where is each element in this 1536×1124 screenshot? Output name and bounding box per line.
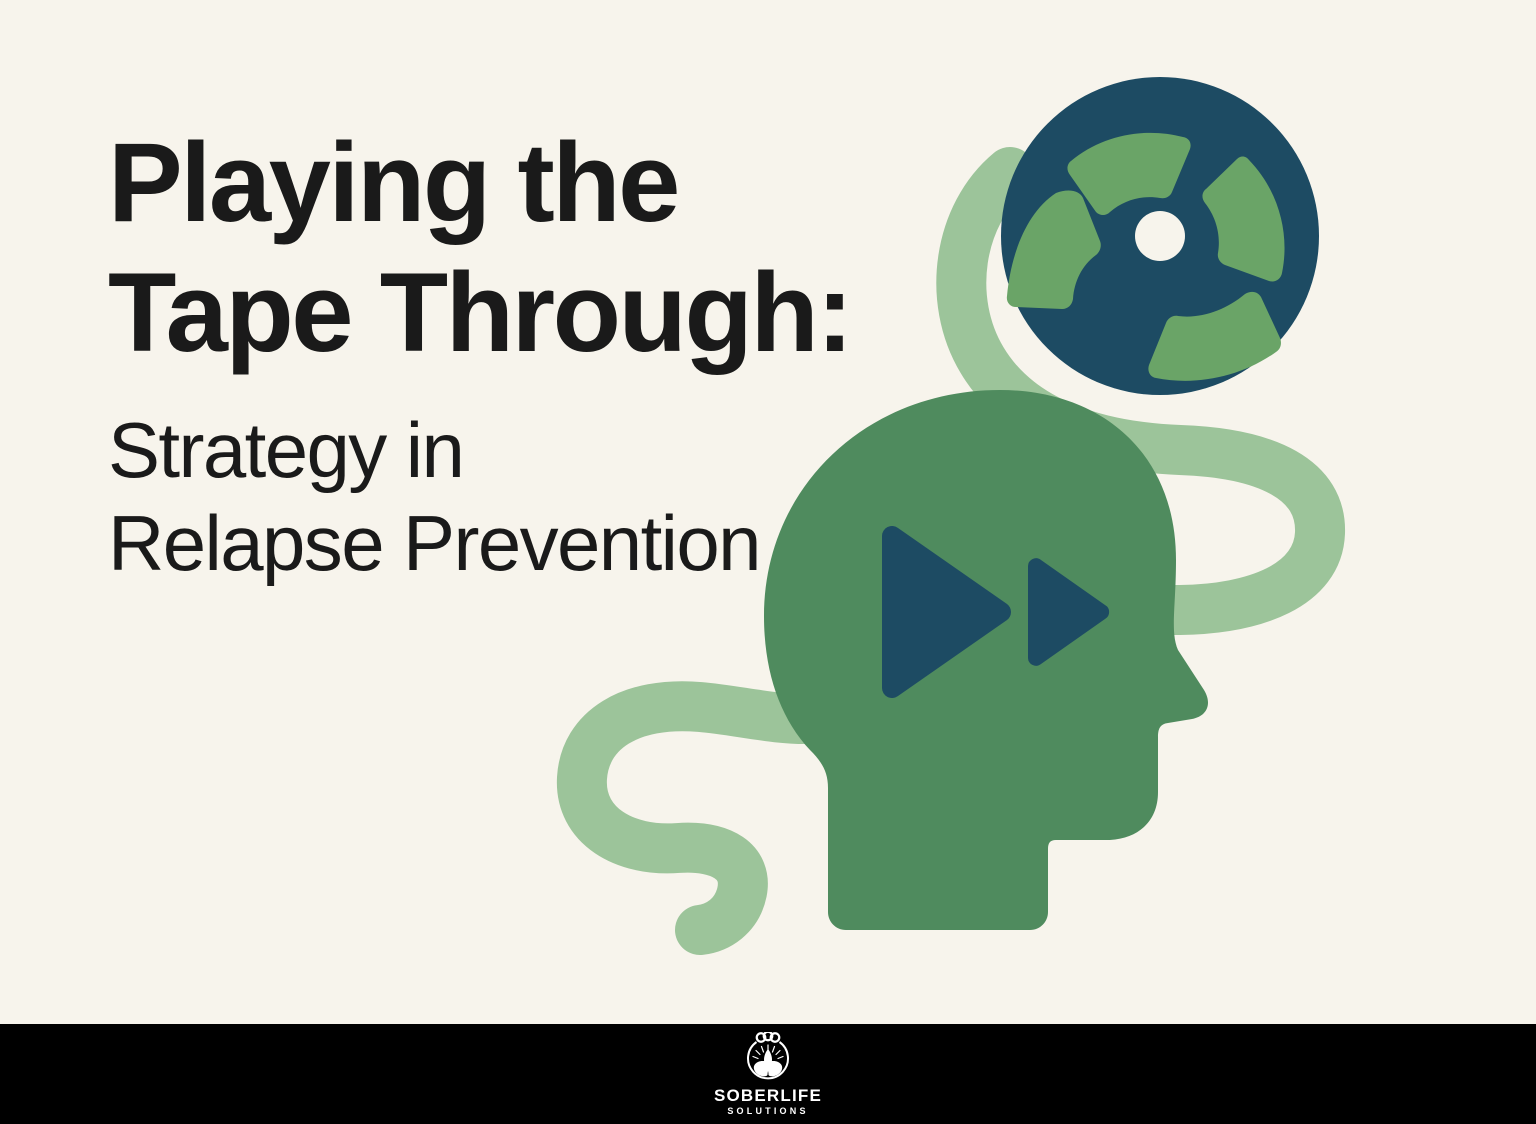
reel-spoke-top bbox=[1067, 133, 1190, 215]
reel-spoke-bottom bbox=[1148, 292, 1281, 381]
tape-ribbon-left bbox=[582, 700, 880, 930]
brand-logo-lockup: SOBERLIFE SOLUTIONS bbox=[714, 1032, 822, 1116]
tape-ribbon-upper bbox=[961, 172, 1320, 610]
film-reel bbox=[1001, 77, 1319, 395]
reel-spoke-left bbox=[1007, 191, 1101, 309]
three-rings-icon bbox=[757, 1032, 780, 1042]
reel-spoke-right bbox=[1202, 156, 1284, 281]
subtitle-line-1: Strategy in bbox=[108, 404, 938, 498]
lotus-sunrise-emblem-icon bbox=[741, 1032, 795, 1084]
poster-canvas: Playing the Tape Through: Strategy in Re… bbox=[0, 0, 1536, 1124]
footer-bar: SOBERLIFE SOLUTIONS bbox=[0, 1024, 1536, 1124]
subtitle-line-2: Relapse Prevention bbox=[108, 497, 938, 591]
brand-name: SOBERLIFE bbox=[714, 1087, 822, 1104]
brand-tagline: SOLUTIONS bbox=[727, 1107, 808, 1116]
reel-body bbox=[1001, 77, 1319, 395]
reel-hub-hole bbox=[1135, 211, 1185, 261]
page-title-block: Playing the Tape Through: Strategy in Re… bbox=[108, 118, 938, 591]
play-triangle-small bbox=[1028, 558, 1109, 666]
headline-line-1: Playing the bbox=[108, 118, 938, 248]
headline-line-2: Tape Through: bbox=[108, 248, 938, 378]
reel-spokes bbox=[1007, 133, 1285, 381]
